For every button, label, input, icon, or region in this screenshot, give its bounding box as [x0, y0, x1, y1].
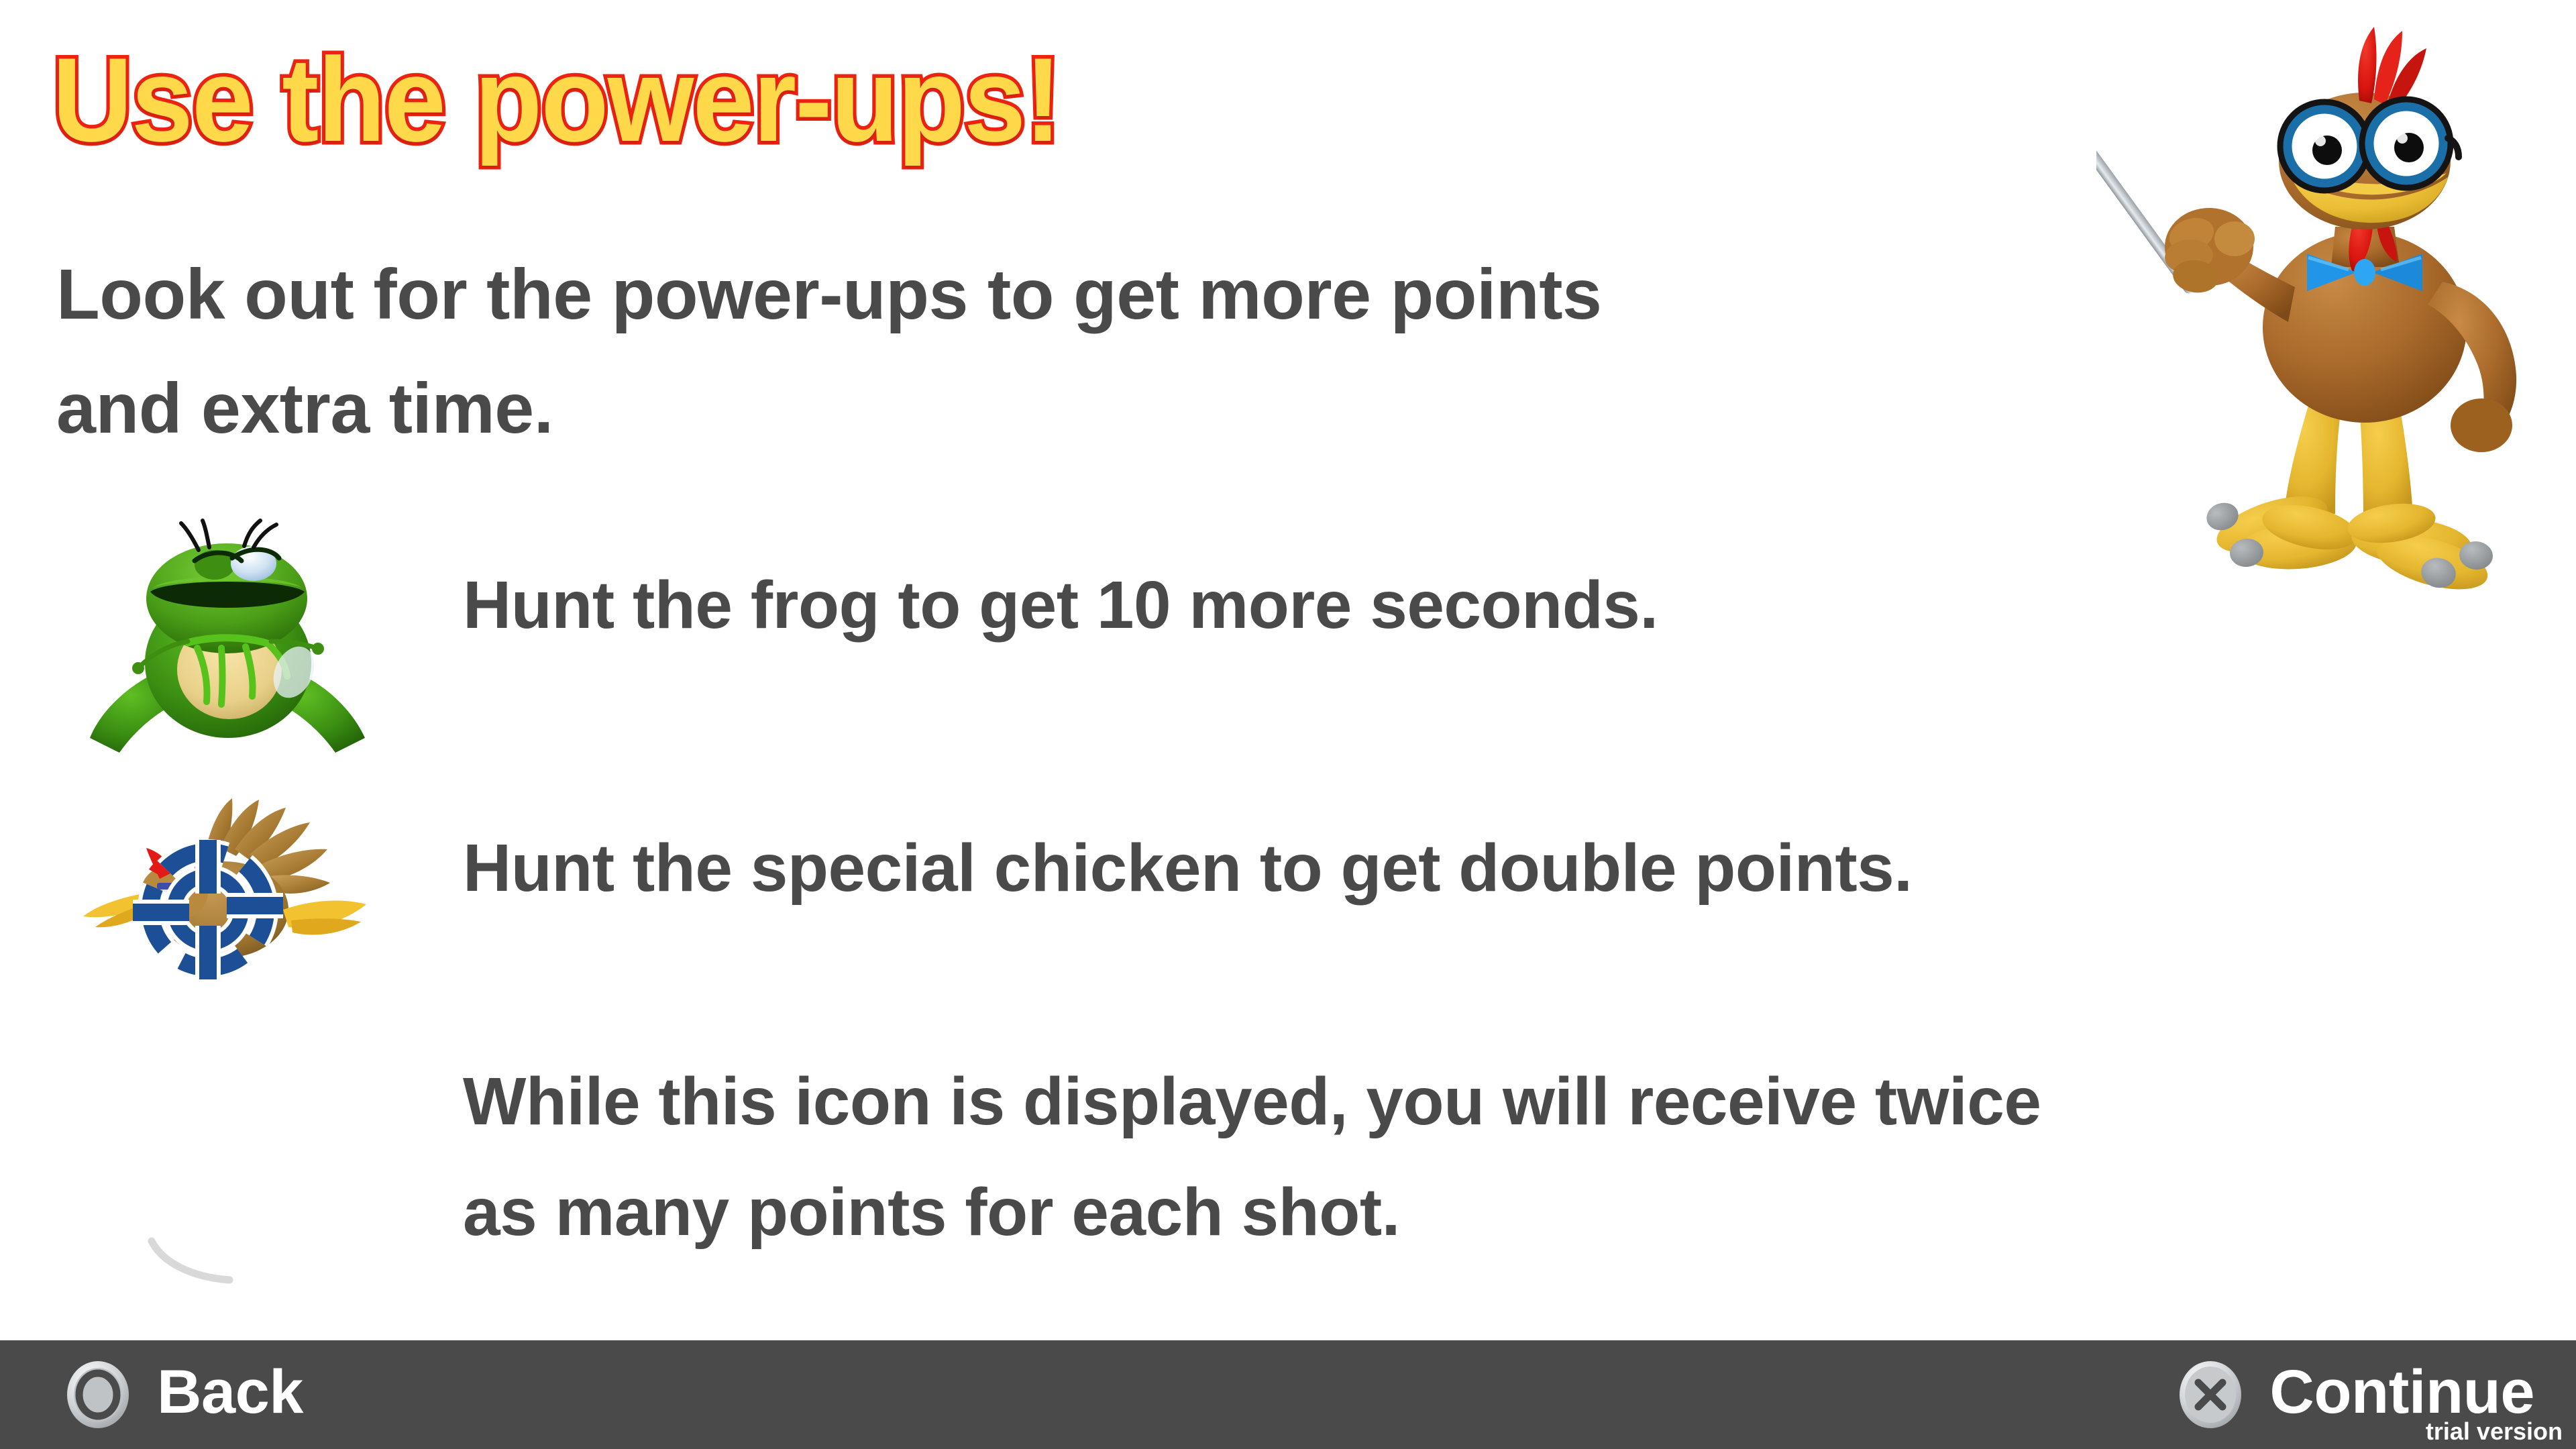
- intro-line-1: Look out for the power-ups to get more p…: [56, 238, 2002, 352]
- intro-line-2: and extra time.: [56, 352, 2002, 466]
- powerup-row-special-chicken-text: Hunt the special chicken to get double p…: [463, 813, 1913, 924]
- bottom-action-bar: Back Continue trial version: [0, 1340, 2576, 1449]
- powerup-frog-line-1: Hunt the frog to get 10 more seconds.: [463, 550, 1658, 661]
- special-chicken-target-icon: [74, 785, 396, 1053]
- double-points-cone-icon: [74, 1053, 396, 1322]
- powerup-list: Hunt the frog to get 10 more seconds.: [0, 510, 2576, 1335]
- intro-paragraph: Look out for the power-ups to get more p…: [56, 238, 2002, 466]
- powerup-double-line-1: While this icon is displayed, you will r…: [463, 1046, 2041, 1157]
- powerup-row-special-chicken: Hunt the special chicken to get double p…: [0, 785, 2576, 1053]
- powerup-chicken-line-1: Hunt the special chicken to get double p…: [463, 813, 1913, 924]
- circle-button-icon: [62, 1358, 134, 1431]
- frog-icon: [74, 510, 396, 778]
- trial-version-watermark: trial version: [2426, 1419, 2563, 1444]
- professor-chicken-mascot: [2096, 25, 2576, 609]
- continue-button-label: Continue: [2269, 1361, 2534, 1423]
- page-title: Use the power-ups!: [52, 40, 1061, 160]
- powerup-row-double-points: While this icon is displayed, you will r…: [0, 1053, 2576, 1335]
- back-button-label: Back: [157, 1361, 303, 1423]
- cross-button-icon: [2174, 1358, 2247, 1431]
- back-button[interactable]: Back: [62, 1340, 303, 1449]
- powerup-row-frog-text: Hunt the frog to get 10 more seconds.: [463, 550, 1658, 661]
- powerup-row-double-points-text: While this icon is displayed, you will r…: [463, 1046, 2041, 1268]
- powerup-double-line-2: as many points for each shot.: [463, 1157, 2041, 1268]
